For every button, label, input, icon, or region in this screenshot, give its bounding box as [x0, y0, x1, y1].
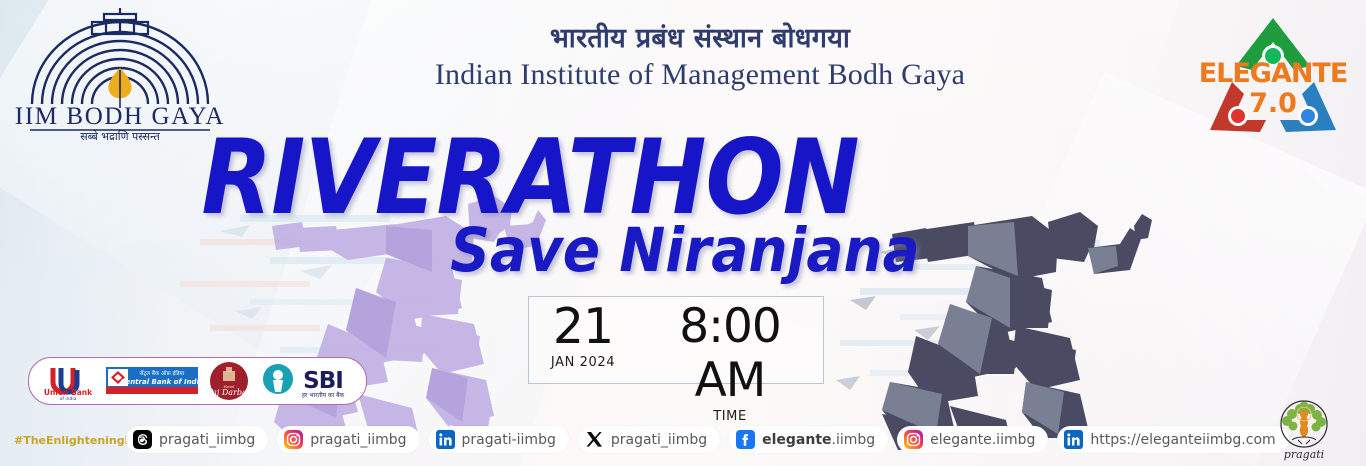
social-handle: pragati_iimbg — [159, 432, 255, 448]
sponsor-strip: Union Bank of india सेंट्रल बैंक ऑफ़ इंड… — [28, 357, 367, 405]
institute-name-hindi: भारतीय प्रबंध संस्थान बोधगया — [330, 22, 1070, 56]
x-icon — [585, 430, 604, 449]
social-link-website[interactable]: https://eleganteiimbg.com — [1057, 426, 1288, 453]
facebook-icon — [736, 430, 755, 449]
elegante-wordmark: ELEGANTE — [1199, 58, 1348, 89]
event-subtitle: Save Niranjana — [0, 215, 1120, 285]
social-handle: pragati-iimbg — [462, 432, 556, 448]
elegante-logo: ELEGANTE 7.0 — [1198, 12, 1348, 138]
event-banner: IIM BODH GAYA सब्बे भद्राणि पस्सन्तु भार… — [0, 0, 1366, 466]
time-block: 8:00 AM TIME — [637, 297, 823, 424]
event-subtitle-text: Save Niranjana — [200, 215, 920, 285]
social-link-linkedin[interactable]: pragati-iimbg — [429, 426, 569, 453]
sponsor-sublabel: हर भारतीय का बैंक — [302, 391, 345, 399]
sponsor-label-hindi: सेंट्रल बैंक ऑफ़ इंडिया — [140, 370, 185, 377]
social-handle: pragati_iimbg — [611, 432, 707, 448]
linkedin-icon — [436, 430, 455, 449]
social-handle: elegante.iimbg — [930, 432, 1035, 448]
sponsor-union-bank: Union Bank of india — [39, 362, 97, 400]
social-handle: https://eleganteiimbg.com — [1090, 432, 1275, 448]
social-link-facebook[interactable]: elegante.iimbg — [729, 426, 888, 453]
sponsor-sbi: SBI हर भारतीय का बैंक — [260, 362, 356, 400]
sponsor-hotel-taj-darbar: Hotel Taj Darbar — [207, 362, 251, 400]
event-time: 8:00 AM — [637, 300, 823, 408]
pragati-logo: pragati — [1272, 398, 1336, 462]
sponsor-sublabel: of india — [60, 396, 77, 400]
date-block: 21 JAN 2024 — [529, 297, 637, 370]
event-time-label: TIME — [637, 409, 823, 424]
instagram-icon — [904, 430, 923, 449]
social-link-instagram[interactable]: pragati_iimbg — [277, 426, 419, 453]
date-time-box: 21 JAN 2024 8:00 AM TIME — [528, 296, 824, 384]
elegante-edition: 7.0 — [1249, 88, 1297, 119]
instagram-icon — [284, 430, 303, 449]
sponsor-label: Taj Darbar — [207, 388, 251, 397]
social-handle-bold: elegante — [762, 432, 831, 448]
event-month-year: JAN 2024 — [529, 355, 637, 370]
pragati-wordmark: pragati — [1284, 448, 1324, 461]
threads-icon — [133, 430, 152, 449]
sponsor-central-bank-of-india: सेंट्रल बैंक ऑफ़ इंडिया Central Bank of … — [106, 362, 198, 400]
institute-name-block: भारतीय प्रबंध संस्थान बोधगया Indian Inst… — [330, 22, 1070, 94]
social-link-threads[interactable]: pragati_iimbg — [126, 426, 268, 453]
social-handle-rest: .iimbg — [832, 432, 876, 448]
sponsor-label: Central Bank of India — [120, 378, 198, 386]
sponsor-label: Union Bank — [44, 388, 93, 397]
institute-name-english: Indian Institute of Management Bodh Gaya — [330, 56, 1070, 94]
sponsor-label: SBI — [303, 368, 343, 394]
social-handle: elegante.iimbg — [762, 432, 875, 448]
social-link-instagram-elegante[interactable]: elegante.iimbg — [897, 426, 1048, 453]
social-link-x[interactable]: pragati_iimbg — [578, 426, 720, 453]
hashtag-text: #TheEnlighteningIIM — [14, 434, 144, 447]
social-handle: pragati_iimbg — [310, 432, 406, 448]
event-day: 21 — [529, 300, 637, 354]
linkedin-icon — [1064, 430, 1083, 449]
social-links-bar: pragati_iimbg pragati_iimbg — [126, 426, 1289, 453]
